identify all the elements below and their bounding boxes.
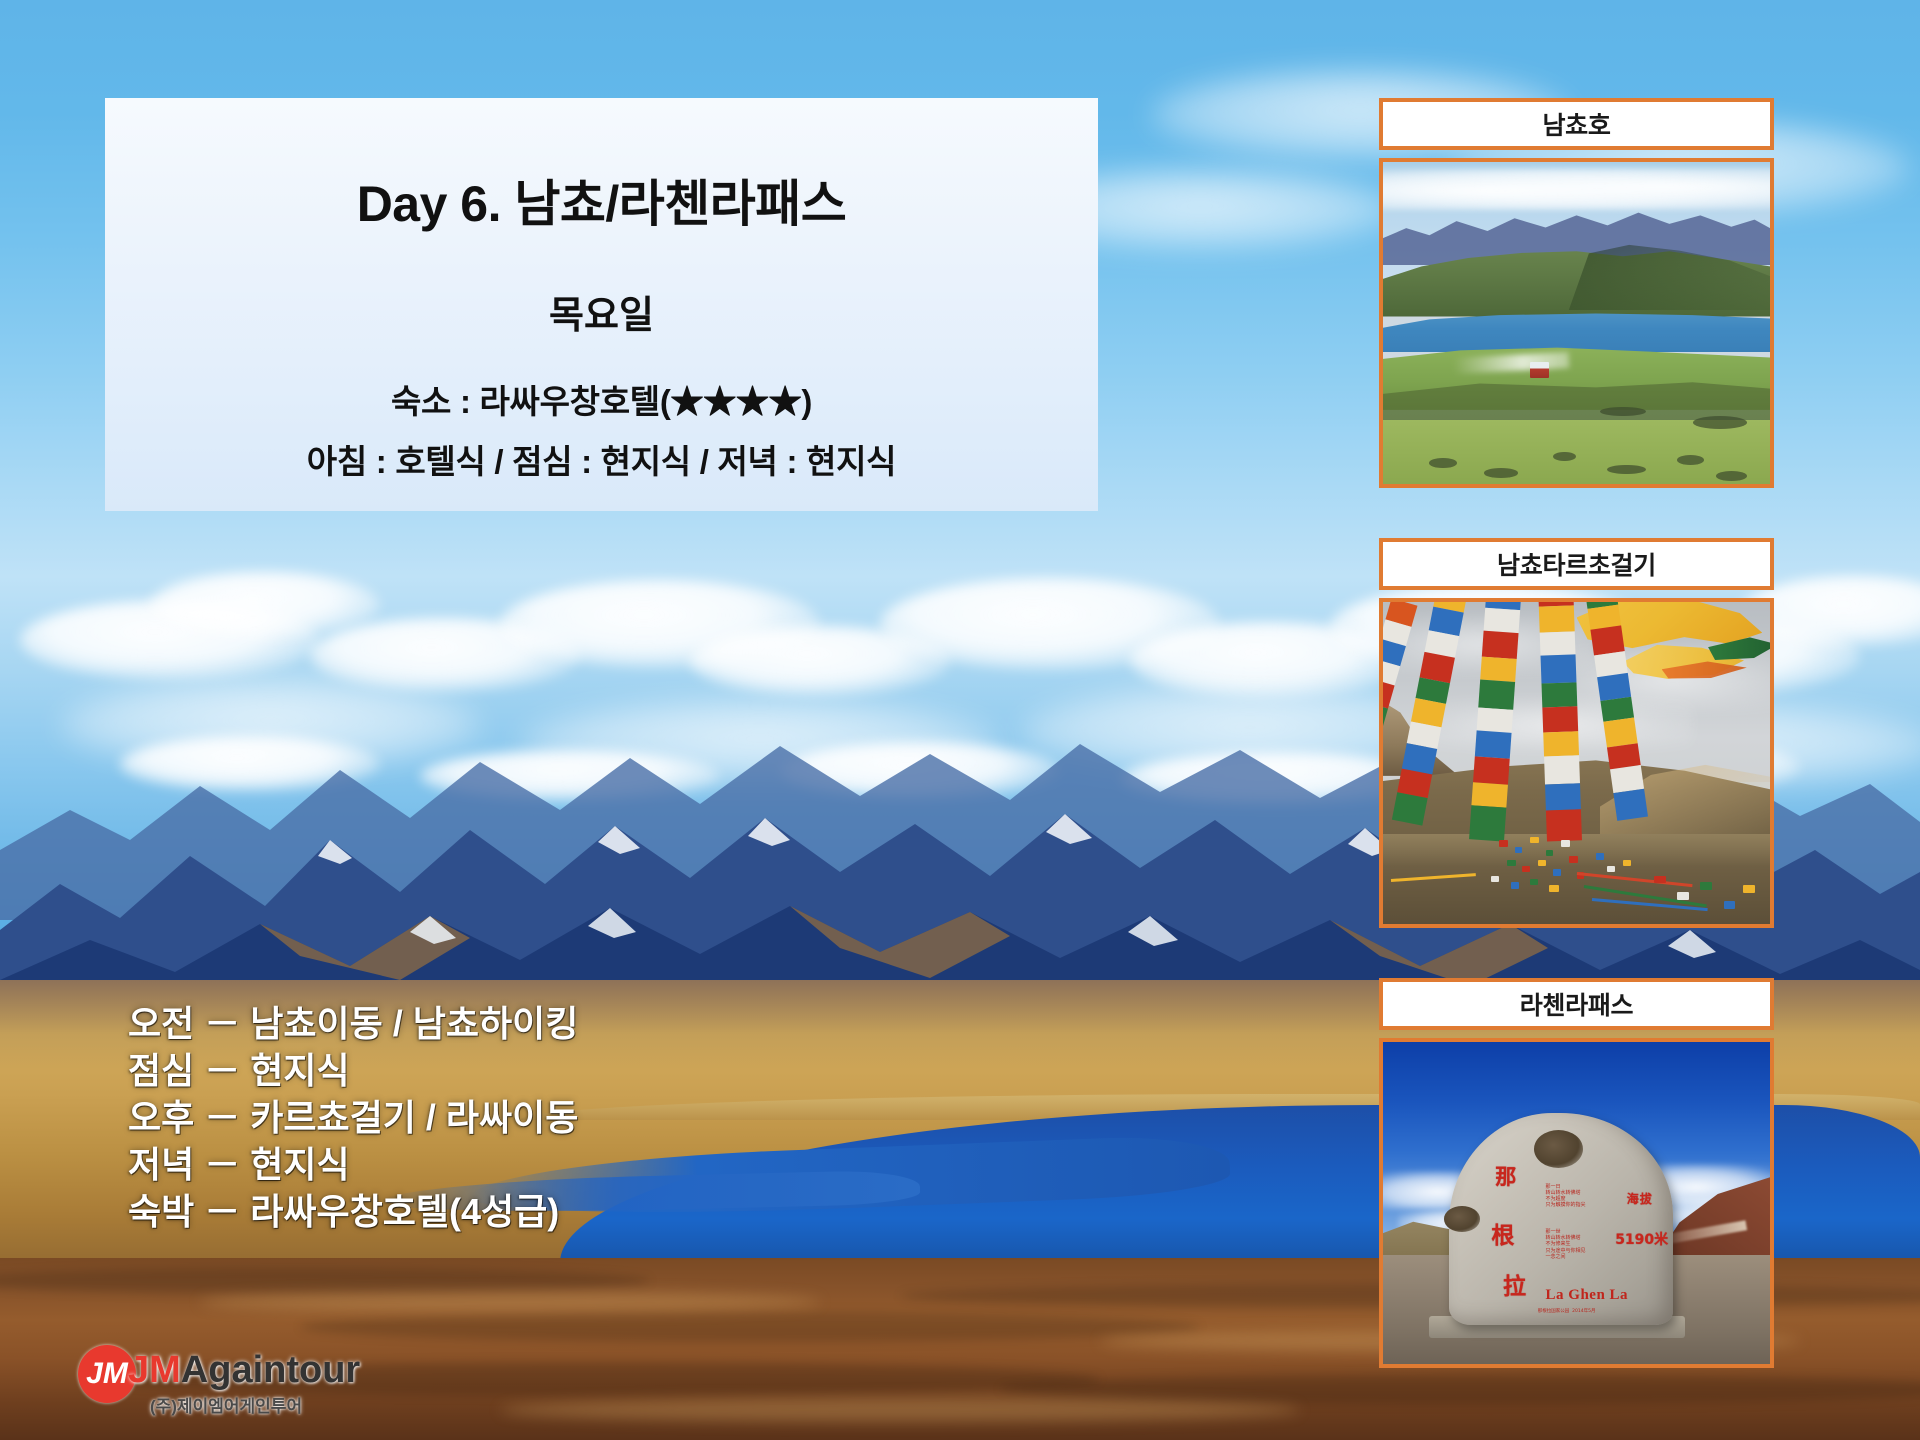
stone-glyph-2: 根 xyxy=(1491,1216,1514,1250)
stone-footer-text: 那根拉国家公园 2014年5月 xyxy=(1538,1309,1631,1315)
logo-wordmark: JMAgaintour xyxy=(128,1349,360,1391)
itinerary-item-dinner: 저녁 － 현지식 xyxy=(128,1141,888,1188)
logo-word-dark: Againtour xyxy=(181,1349,360,1391)
card-label: 라첸라패스 xyxy=(1520,986,1634,1022)
meals-line: 아침 : 호텔식 / 점심 : 현지식 / 저녁 : 현지식 xyxy=(105,435,1098,483)
itinerary-item-lodging: 숙박 － 라싸우창호텔(4성급) xyxy=(128,1188,888,1235)
itinerary-item-lunch: 점심 － 현지식 xyxy=(128,1047,888,1094)
card-header-la-ghen-la: 라첸라패스 xyxy=(1379,978,1774,1030)
photo-card-namtso-lake: 남쵸호 xyxy=(1379,98,1774,488)
stone-latin-name: La Ghen La xyxy=(1546,1287,1629,1304)
presentation-slide: Day 6. 남쵸/라첸라패스 목요일 숙소 : 라싸우창호텔(★★★★) 아침… xyxy=(0,0,1920,1440)
photo-card-la-ghen-la: 라첸라패스 那 根 xyxy=(1379,978,1774,1368)
stone-altitude-label: 海拔 xyxy=(1627,1190,1653,1207)
company-logo: JM JMAgaintour (주)제이엠어게인투어 xyxy=(78,1345,378,1423)
itinerary-list: 오전 － 남쵸이동 / 남쵸하이킹 점심 － 현지식 오후 － 카르쵸걸기 / … xyxy=(128,1000,888,1235)
logo-subtitle: (주)제이엠어게인투어 xyxy=(150,1392,360,1417)
card-label: 남쵸호 xyxy=(1542,106,1610,142)
card-header-prayer-flags: 남쵸타르초걸기 xyxy=(1379,538,1774,590)
itinerary-item-afternoon: 오후 － 카르쵸걸기 / 라싸이동 xyxy=(128,1094,888,1141)
page-title: Day 6. 남쵸/라첸라패스 xyxy=(105,164,1098,236)
namtso-lake-photo xyxy=(1379,158,1774,488)
stone-glyph-3: 拉 xyxy=(1503,1267,1526,1301)
logo-word-red: JM xyxy=(128,1349,181,1391)
itinerary-item-morning: 오전 － 남쵸이동 / 남쵸하이킹 xyxy=(128,1000,888,1047)
prayer-flags-photo xyxy=(1379,598,1774,928)
la-ghen-la-stone-photo: 那 根 拉 海拔 5190米 La Ghen La 那一日转山转水转佛塔不为超度… xyxy=(1379,1038,1774,1368)
card-header-namtso-lake: 남쵸호 xyxy=(1379,98,1774,150)
stone-altitude-value: 5190米 xyxy=(1615,1229,1668,1249)
lodging-line: 숙소 : 라싸우창호텔(★★★★) xyxy=(105,375,1098,423)
photo-card-prayer-flags: 남쵸타르초걸기 xyxy=(1379,538,1774,928)
weekday-label: 목요일 xyxy=(105,284,1098,339)
day-info-panel: Day 6. 남쵸/라첸라패스 목요일 숙소 : 라싸우창호텔(★★★★) 아침… xyxy=(105,98,1098,511)
stone-small-text-lower: 那一世转山转水转佛塔不为修来生只为途中与你相见一念之间 xyxy=(1546,1229,1608,1260)
stone-small-text-upper: 那一日转山转水转佛塔不为超度只为触摸你的指尖 xyxy=(1546,1184,1608,1209)
stone-glyph-1: 那 xyxy=(1495,1161,1516,1191)
card-label: 남쵸타르초걸기 xyxy=(1497,546,1656,582)
